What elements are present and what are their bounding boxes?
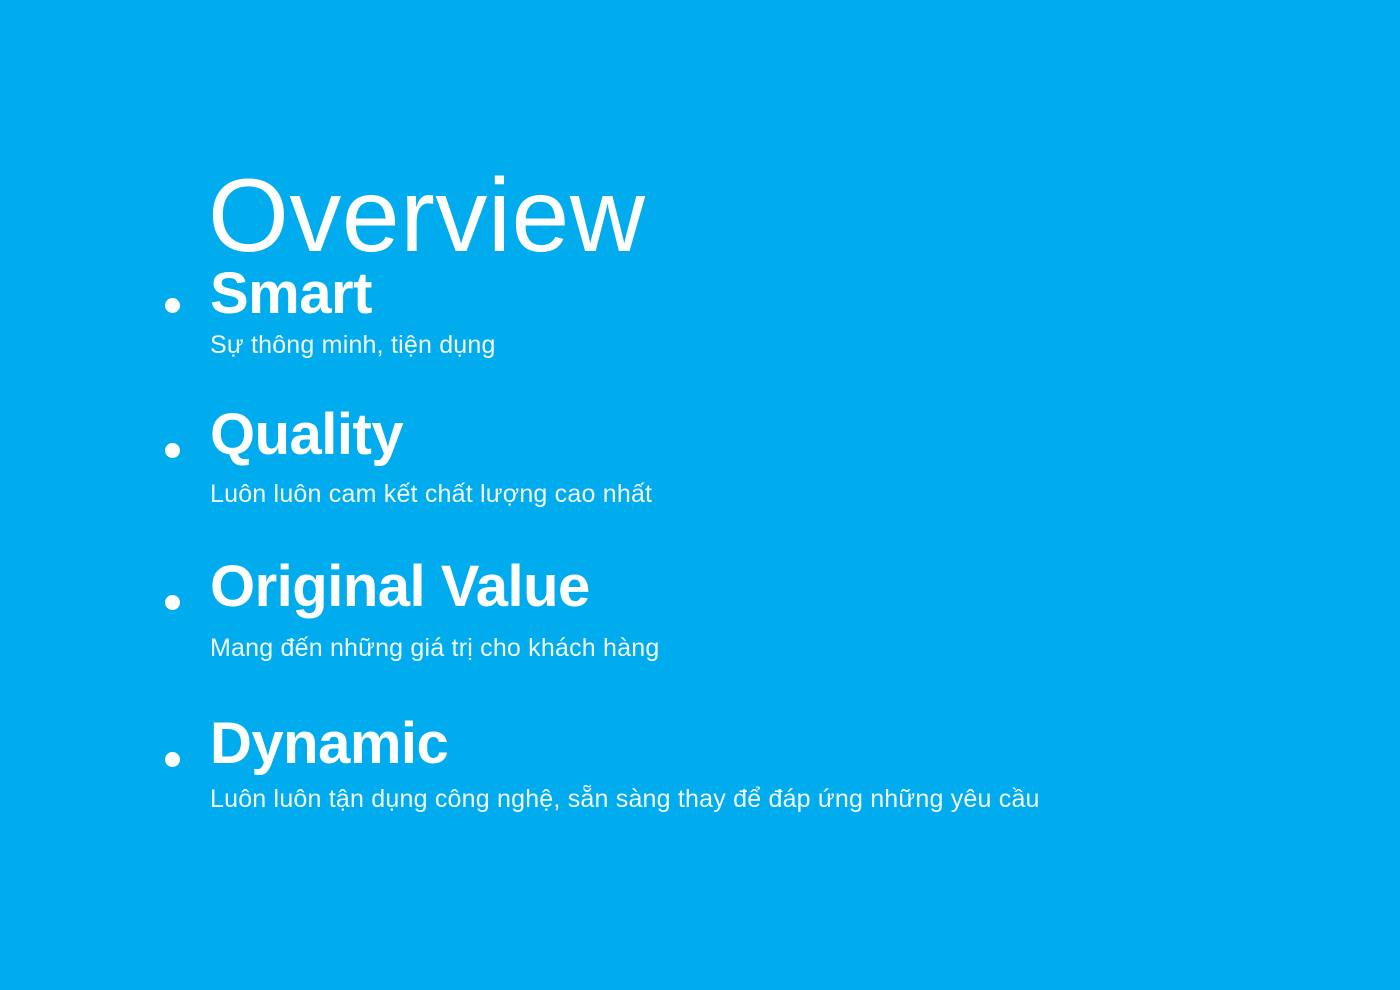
bullet-subtitle: Luôn luôn tận dụng công nghệ, sẵn sàng t… [0, 777, 1400, 816]
page-title: Overview [208, 162, 645, 271]
bullet-dot-icon [165, 298, 180, 313]
bullet-heading: Dynamic [0, 702, 1400, 777]
bullet-dot-icon [165, 595, 180, 610]
bullet-subtitle: Sự thông minh, tiện dụng [0, 327, 1400, 362]
bullet-heading: Smart [0, 262, 1400, 327]
overview-bullet-list: Smart Sự thông minh, tiện dụng Quality L… [0, 262, 1400, 816]
bullet-heading: Quality [0, 399, 1400, 468]
presentation-slide: Overview Smart Sự thông minh, tiện dụng … [0, 0, 1400, 990]
bullet-subtitle: Luôn luôn cam kết chất lượng cao nhất [0, 468, 1400, 511]
bullet-heading: Original Value [0, 549, 1400, 620]
list-item: Original Value Mang đến những giá trị ch… [0, 549, 1400, 664]
list-item: Smart Sự thông minh, tiện dụng [0, 262, 1400, 361]
list-item: Dynamic Luôn luôn tận dụng công nghệ, sẵ… [0, 702, 1400, 815]
list-item: Quality Luôn luôn cam kết chất lượng cao… [0, 399, 1400, 510]
bullet-subtitle: Mang đến những giá trị cho khách hàng [0, 620, 1400, 665]
